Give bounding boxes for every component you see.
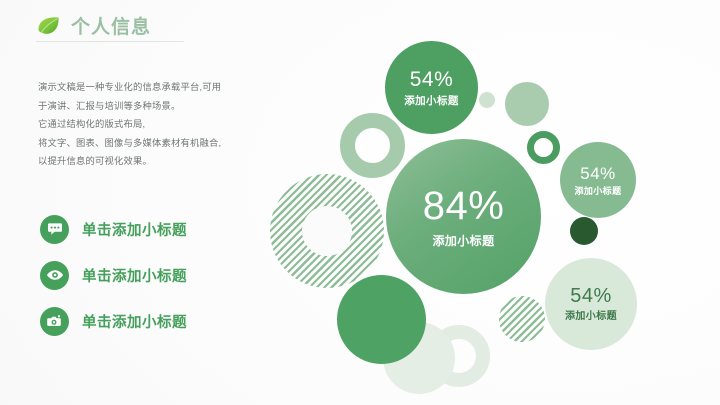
slide-header: 个人信息 (36, 12, 151, 39)
bubble-percent: 54% (570, 286, 612, 306)
bubble-sublabel: 添加小标题 (574, 187, 621, 196)
bubble-percent: 54% (580, 165, 616, 182)
leaf-icon (36, 13, 62, 39)
bullet-list: 单击添加小标题 单击添加小标题 单击添加小标题 (40, 206, 280, 344)
body-line-4: 将文字、图表、图像与多媒体素材有机融合, (38, 134, 268, 153)
dark-dot-decoration (570, 217, 598, 245)
bubble-percent: 54% (410, 69, 454, 90)
bubble-sublabel: 添加小标题 (404, 96, 459, 107)
soft-green-circle-decoration (505, 82, 549, 126)
tiny-circle-decoration (479, 92, 495, 108)
bullet-label-3: 单击添加小标题 (82, 311, 187, 332)
bullet-item-1[interactable]: 单击添加小标题 (40, 206, 280, 252)
bubble-percent: 84% (423, 186, 505, 226)
slide-canvas: 个人信息 演示文稿是一种专业化的信息承载平台,可用 于演讲、汇报与培训等多种场景… (0, 0, 720, 405)
eye-icon (40, 261, 69, 290)
bubble-right[interactable]: 54% 添加小标题 (560, 142, 636, 218)
body-line-3: 它通过结构化的版式布局, (38, 115, 268, 134)
striped-ring-hole (302, 206, 352, 256)
title-divider (36, 41, 184, 42)
bubble-main[interactable]: 84% 添加小标题 (386, 139, 541, 294)
body-paragraph: 演示文稿是一种专业化的信息承载平台,可用 于演讲、汇报与培训等多种场景。 它通过… (38, 78, 268, 171)
bullet-label-1: 单击添加小标题 (82, 219, 187, 240)
solid-green-circle-decoration (337, 275, 426, 364)
bubble-sublabel: 添加小标题 (432, 235, 494, 247)
page-title: 个人信息 (71, 12, 151, 39)
body-line-5: 以提升信息的可视化效果。 (38, 152, 268, 171)
bullet-item-2[interactable]: 单击添加小标题 (40, 252, 280, 298)
chat-bubble-icon (40, 215, 69, 244)
bubble-sublabel: 添加小标题 (565, 312, 617, 322)
green-ring-decoration (527, 131, 560, 164)
bubble-top[interactable]: 54% 添加小标题 (385, 41, 478, 134)
pale-ring-decoration (340, 113, 405, 178)
bullet-label-2: 单击添加小标题 (82, 265, 187, 286)
bullet-item-3[interactable]: 单击添加小标题 (40, 298, 280, 344)
body-line-2: 于演讲、汇报与培训等多种场景。 (38, 97, 268, 116)
body-line-1: 演示文稿是一种专业化的信息承载平台,可用 (38, 78, 268, 97)
camera-icon (40, 307, 69, 336)
bubble-bottom-right[interactable]: 54% 添加小标题 (545, 258, 637, 350)
striped-circle-decoration (499, 296, 545, 342)
